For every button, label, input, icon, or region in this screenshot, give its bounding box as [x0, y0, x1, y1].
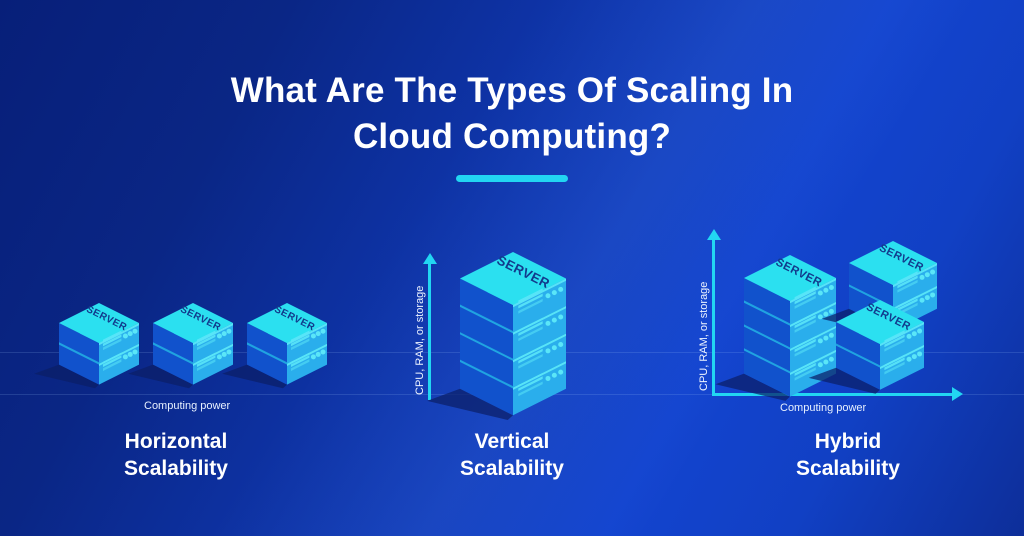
vertical-y-axis-label: CPU, RAM, or storage [414, 286, 426, 395]
hybrid-y-axis-line [712, 240, 715, 396]
server-stack-horizontal-3: SERVER [221, 277, 353, 429]
server-stack-vertical-1: SERVER [434, 226, 592, 459]
panel-hybrid-title-line-2: Scalability [672, 455, 1024, 482]
panel-vertical-title-line-2: Scalability [352, 455, 672, 482]
panel-horizontal-title-line-1: Horizontal [0, 428, 352, 455]
hybrid-y-axis-label: CPU, RAM, or storage [698, 282, 710, 391]
panel-horizontal-title-line-2: Scalability [0, 455, 352, 482]
server-stack-hybrid-3: SERVER [810, 274, 950, 434]
vertical-y-axis-line [428, 264, 431, 400]
panel-horizontal-scalability: Computing power Horizontal Scalability [0, 0, 352, 536]
hybrid-x-axis-arrowhead-icon [952, 387, 963, 401]
infographic-canvas: What Are The Types Of Scaling In Cloud C… [0, 0, 1024, 536]
panel-horizontal-title: Horizontal Scalability [0, 428, 352, 483]
